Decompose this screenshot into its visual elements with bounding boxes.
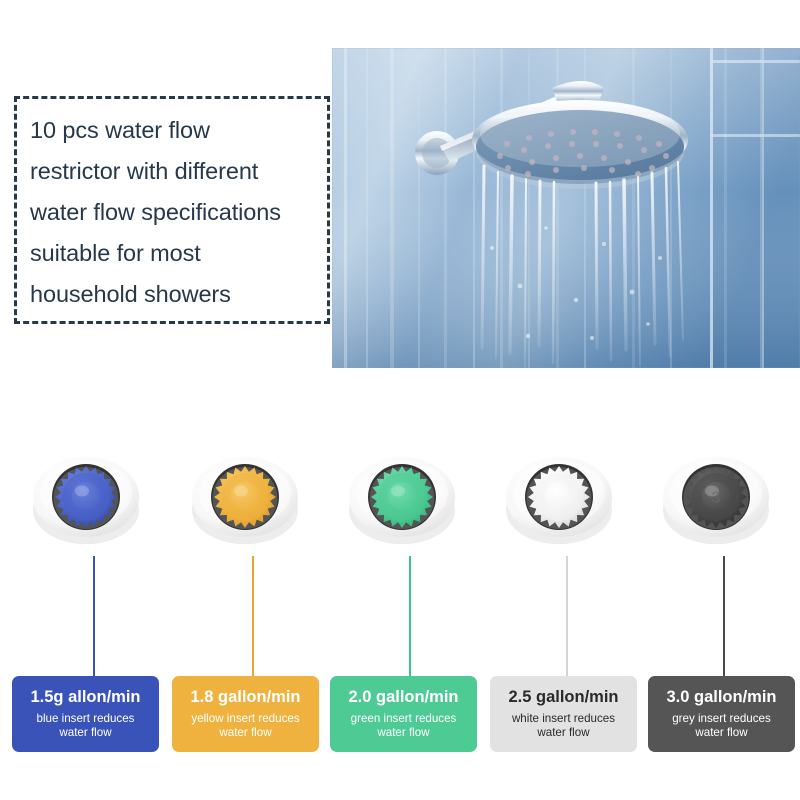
connector-line-white (566, 556, 568, 678)
disc-svg (494, 440, 624, 558)
spec-description-line-1: grey insert reduces (672, 712, 771, 726)
spec-description-line-1: blue insert reduces (37, 712, 135, 726)
product-disc-row: 3 (0, 440, 800, 570)
disc-svg (337, 440, 467, 558)
spec-card-white[interactable]: 2.5 gallon/minwhite insert reduceswater … (490, 676, 637, 752)
spec-description-line-1: white insert reduces (512, 712, 615, 726)
spec-description-line-1: green insert reduces (351, 712, 457, 726)
headline-line-1: 10 pcs water flow (30, 110, 342, 151)
spec-flow-rate: 2.0 gallon/min (348, 688, 458, 706)
connector-line-green (409, 556, 411, 678)
insert-center-knob (72, 482, 101, 510)
spec-card-blue[interactable]: 1.5g allon/minblue insert reduceswater f… (12, 676, 159, 752)
spec-description: white insert reduceswater flow (512, 712, 615, 740)
insert-center-knob (388, 482, 417, 510)
spec-description-line-2: water flow (672, 726, 771, 740)
spec-description-line-2: water flow (512, 726, 615, 740)
headline-text: 10 pcs water flow restrictor with differ… (30, 110, 342, 315)
spec-description-line-2: water flow (351, 726, 457, 740)
shower-photo-svg (332, 48, 800, 368)
spec-description-line-1: yellow insert reduces (191, 712, 299, 726)
spec-flow-rate: 3.0 gallon/min (666, 688, 776, 706)
spec-description: blue insert reduceswater flow (37, 712, 135, 740)
spec-card-yellow[interactable]: 1.8 gallon/minyellow insert reduceswater… (172, 676, 319, 752)
product-disc-yellow[interactable] (180, 440, 310, 558)
product-disc-green[interactable] (337, 440, 467, 558)
connector-line-grey (723, 556, 725, 678)
product-disc-white[interactable] (494, 440, 624, 558)
spec-description: yellow insert reduceswater flow (191, 712, 299, 740)
product-disc-blue[interactable] (21, 440, 151, 558)
shower-head-photo (332, 48, 800, 368)
spec-description: green insert reduceswater flow (351, 712, 457, 740)
headline-line-4: suitable for most (30, 233, 342, 274)
headline-line-3: water flow specifications (30, 192, 342, 233)
spec-card-row: 1.5g allon/minblue insert reduceswater f… (0, 676, 800, 756)
insert-center-knob (231, 482, 260, 510)
spec-card-green[interactable]: 2.0 gallon/mingreen insert reduceswater … (330, 676, 477, 752)
spec-description: grey insert reduceswater flow (672, 712, 771, 740)
connector-line-blue (93, 556, 95, 678)
disc-svg (180, 440, 310, 558)
spec-description-line-2: water flow (191, 726, 299, 740)
spec-flow-rate: 2.5 gallon/min (508, 688, 618, 706)
insert-marking: 3 (711, 488, 720, 507)
insert-center-knob (545, 482, 574, 510)
spec-card-grey[interactable]: 3.0 gallon/mingrey insert reduceswater f… (648, 676, 795, 752)
connector-line-yellow (252, 556, 254, 678)
product-disc-grey[interactable]: 3 (651, 440, 781, 558)
spec-flow-rate: 1.8 gallon/min (190, 688, 300, 706)
spec-flow-rate: 1.5g allon/min (30, 688, 140, 706)
spec-description-line-2: water flow (37, 726, 135, 740)
headline-line-5: household showers (30, 274, 342, 315)
disc-svg: 3 (651, 440, 781, 558)
disc-svg (21, 440, 151, 558)
headline-line-2: restrictor with different (30, 151, 342, 192)
